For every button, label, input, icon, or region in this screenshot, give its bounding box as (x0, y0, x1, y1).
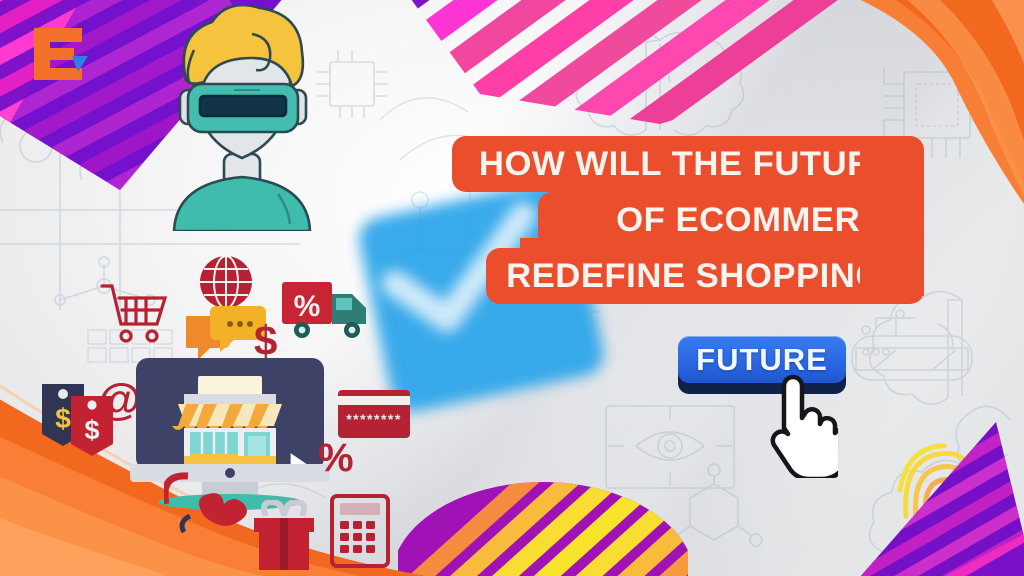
banner-canvas: E (0, 0, 1024, 576)
hand-pointer-cursor (762, 372, 838, 478)
cta-button-group: FUTURE (0, 0, 1024, 576)
